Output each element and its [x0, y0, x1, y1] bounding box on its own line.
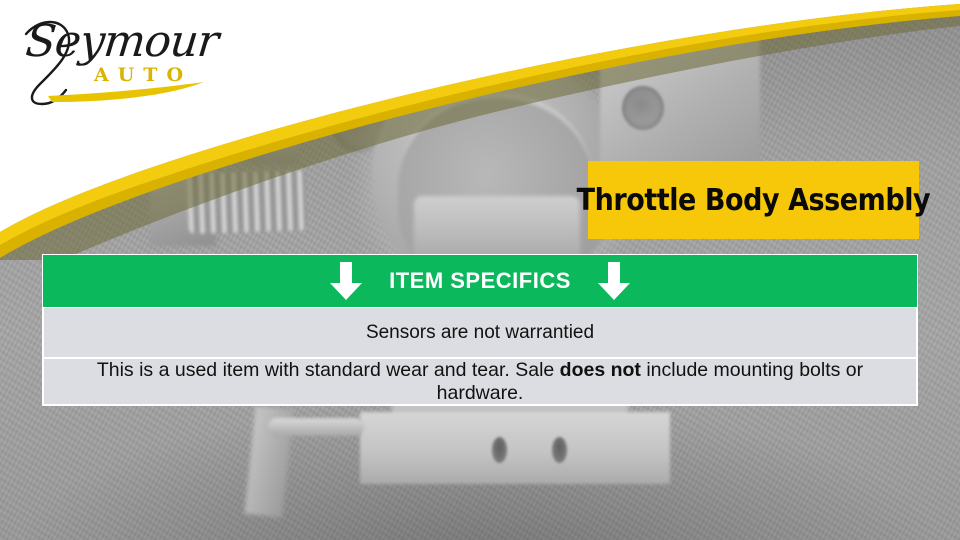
spec-text-bold: does not [560, 359, 641, 381]
arrow-down-icon [329, 261, 363, 301]
photo-bolt-hole-left [492, 437, 507, 463]
spec-row-text: Sensors are not warrantied [356, 322, 604, 344]
product-title-banner: Throttle Body Assembly [588, 161, 919, 239]
table-row: Sensors are not warrantied [43, 307, 917, 358]
photo-spring [187, 170, 307, 234]
page-title: Throttle Body Assembly [577, 183, 931, 218]
item-specifics-table: ITEM SPECIFICS Sensors are not warrantie… [42, 254, 918, 406]
photo-lower-block [360, 412, 670, 484]
arrow-down-icon [597, 261, 631, 301]
photo-bolt-hole-right [552, 437, 567, 463]
photo-lower-pin [268, 418, 364, 436]
table-row: This is a used item with standard wear a… [43, 358, 917, 405]
spec-row-text-rich: This is a used item with standard wear a… [44, 359, 916, 405]
spec-text-before: This is a used item with standard wear a… [97, 359, 560, 381]
item-specifics-header: ITEM SPECIFICS [43, 255, 917, 307]
brand-swoosh-icon [18, 12, 218, 110]
photo-bracket [246, 120, 298, 164]
listing-slide: Seymour AUTO Throttle Body Assembly ITEM… [0, 0, 960, 540]
item-specifics-label: ITEM SPECIFICS [389, 268, 571, 294]
brand-logo: Seymour AUTO [18, 12, 218, 110]
photo-flange-hole [622, 86, 664, 130]
